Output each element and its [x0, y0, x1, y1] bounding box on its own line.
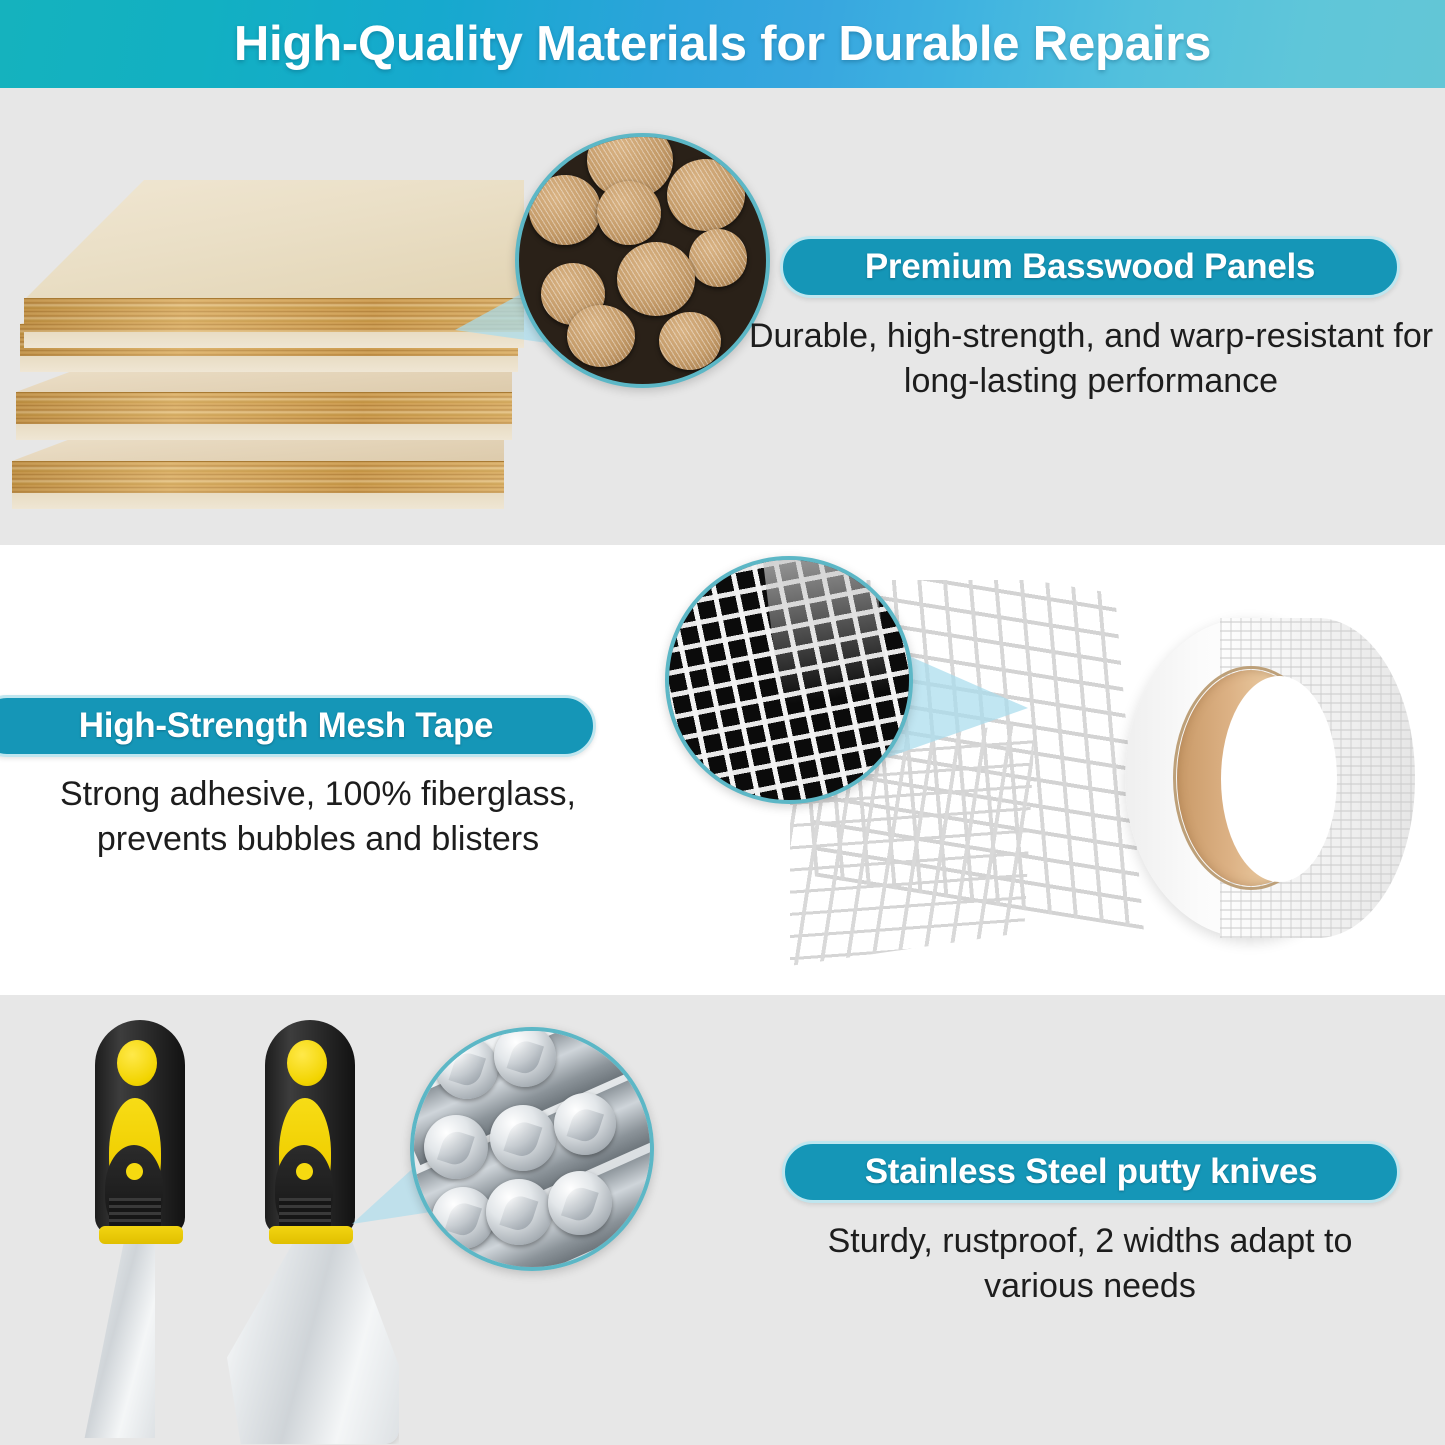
- tape-center-hole: [1221, 676, 1337, 882]
- log-slice: [597, 181, 661, 245]
- knife-ferrule: [99, 1226, 183, 1244]
- panel-underside: [16, 424, 512, 440]
- rod-face: [494, 1027, 556, 1087]
- handle-yellow-dot: [296, 1163, 313, 1180]
- badge-putty-knives: Stainless Steel putty knives: [782, 1141, 1400, 1203]
- log-slice: [659, 312, 721, 370]
- panel-edge-layers: [16, 392, 512, 426]
- description-mesh-tape: Strong adhesive, 100% fiberglass, preven…: [18, 772, 618, 862]
- panel-edge-layers: [12, 461, 504, 495]
- rod-face: [432, 1187, 494, 1249]
- panel-top-face: [24, 180, 524, 300]
- panel-edge-layers: [24, 298, 524, 334]
- badge-basswood-panels: Premium Basswood Panels: [780, 236, 1400, 298]
- description-putty-knives: Sturdy, rustproof, 2 widths adapt to var…: [790, 1219, 1390, 1309]
- panel-underside: [20, 356, 518, 372]
- rod-face: [548, 1171, 612, 1235]
- rod-face: [554, 1093, 616, 1155]
- panel-underside: [12, 493, 504, 509]
- rod-face: [436, 1037, 498, 1099]
- mesh-sheen: [760, 556, 890, 705]
- log-slice: [617, 242, 695, 316]
- header-banner: High-Quality Materials for Durable Repai…: [0, 0, 1445, 88]
- handle-yellow-dot: [126, 1163, 143, 1180]
- panel-underside: [24, 332, 524, 348]
- rod-face: [424, 1115, 488, 1179]
- log-slice: [689, 229, 747, 287]
- rod-face: [490, 1105, 556, 1171]
- handle-yellow-button: [287, 1040, 327, 1086]
- badge-mesh-tape: High-Strength Mesh Tape: [0, 695, 596, 757]
- description-basswood-panels: Durable, high-strength, and warp-resista…: [738, 314, 1444, 404]
- infographic-page: High-Quality Materials for Durable Repai…: [0, 0, 1445, 1445]
- badge-label: High-Strength Mesh Tape: [79, 706, 493, 746]
- badge-label: Stainless Steel putty knives: [865, 1152, 1318, 1192]
- log-slice: [667, 159, 745, 231]
- inset-mesh-weave: [665, 556, 913, 804]
- page-title: High-Quality Materials for Durable Repai…: [0, 0, 1445, 88]
- knife-ferrule: [269, 1226, 353, 1244]
- log-slice: [529, 175, 601, 245]
- badge-label: Premium Basswood Panels: [865, 247, 1315, 287]
- inset-steel-rods: [410, 1027, 654, 1271]
- handle-yellow-button: [117, 1040, 157, 1086]
- rod-face: [486, 1179, 552, 1245]
- log-slice: [567, 305, 635, 367]
- inset-wood-logs: [515, 133, 770, 388]
- mesh-tape-roll: [1125, 618, 1415, 938]
